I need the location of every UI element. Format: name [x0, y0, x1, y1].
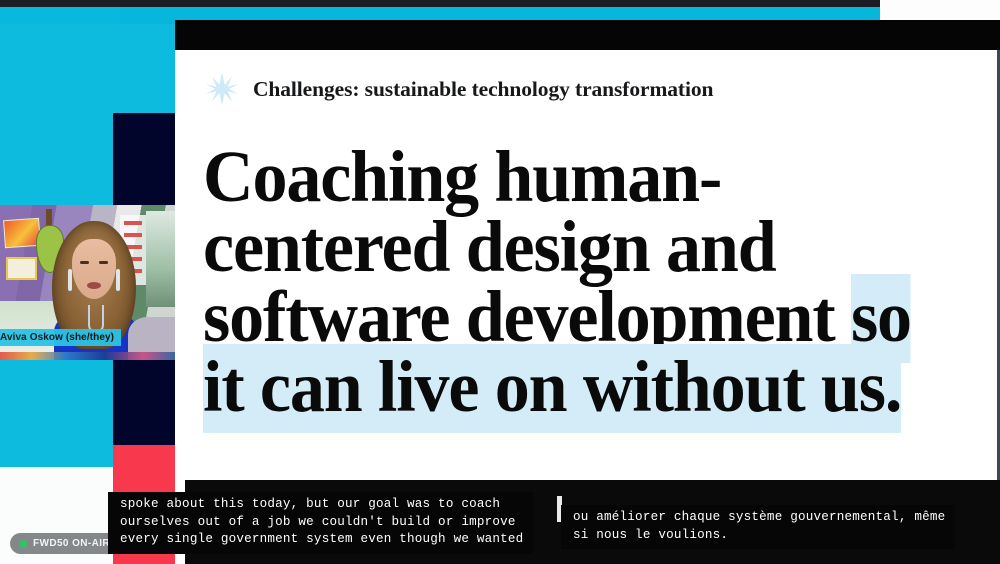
caption-french: ou améliorer chaque système gouvernement… [561, 505, 955, 549]
top-edge-strip [0, 0, 1000, 7]
on-air-label: FWD50 ON-AIR [33, 538, 110, 549]
speaker-name-plate: Aviva Oskow (she/they) [0, 329, 121, 346]
slide-eyebrow-text: Challenges: sustainable technology trans… [253, 77, 713, 102]
window-shape [146, 211, 175, 307]
wall-frame-icon [6, 257, 37, 280]
sparkle-star-icon [205, 72, 239, 106]
earring-right-icon [116, 269, 120, 291]
slide-headline-plain: Coaching human-centered design and softw… [203, 136, 851, 357]
video-bottom-color-strip [0, 352, 175, 360]
earring-left-icon [68, 269, 72, 291]
speaker-eye-right [99, 261, 108, 264]
slide-top-black-band [175, 20, 1000, 50]
speaker-video-tile[interactable]: Aviva Oskow (she/they) [0, 205, 175, 360]
caption-english: spoke about this today, but our goal was… [108, 492, 533, 554]
slide-eyebrow: Challenges: sustainable technology trans… [205, 72, 713, 106]
live-dot-icon [19, 540, 27, 548]
speaker-lips [87, 282, 101, 289]
presentation-slide[interactable]: Challenges: sustainable technology trans… [175, 50, 1000, 480]
livestream-screen: Challenges: sustainable technology trans… [0, 0, 1000, 564]
speaker-eye-left [80, 261, 89, 264]
slide-headline: Coaching human-centered design and softw… [203, 142, 933, 422]
on-air-badge[interactable]: FWD50 ON-AIR [10, 533, 122, 554]
